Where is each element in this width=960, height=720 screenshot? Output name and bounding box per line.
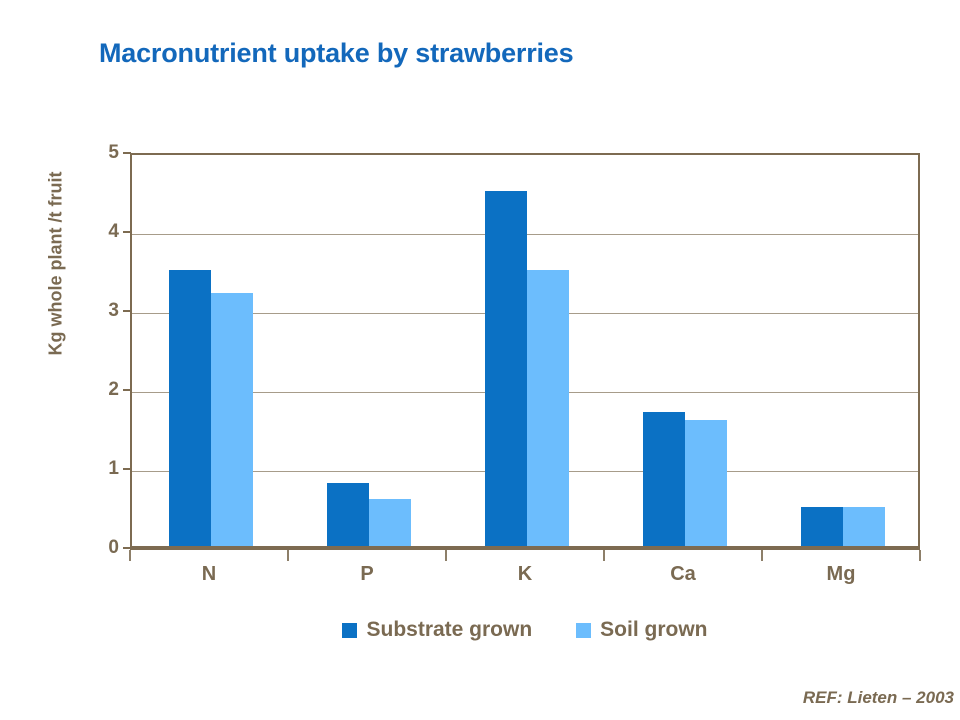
x-axis-tick-mark xyxy=(129,550,131,561)
y-axis-tick-mark xyxy=(123,231,131,233)
reference-note: REF: Lieten – 2003 xyxy=(803,688,954,708)
bar-n-substrate-grown[interactable] xyxy=(169,270,211,547)
bar-ca-soil-grown[interactable] xyxy=(685,420,727,546)
y-axis-tick-label: 5 xyxy=(89,142,119,164)
plot-inner xyxy=(132,155,918,546)
y-axis-tick-mark xyxy=(123,152,131,154)
y-axis-tick-label: 1 xyxy=(89,458,119,480)
bar-mg-substrate-grown[interactable] xyxy=(801,507,843,547)
y-axis-tick-mark xyxy=(123,310,131,312)
bar-p-substrate-grown[interactable] xyxy=(327,483,369,546)
y-axis-tick-mark xyxy=(123,389,131,391)
bar-ca-substrate-grown[interactable] xyxy=(643,412,685,546)
x-axis-line xyxy=(130,546,920,550)
y-axis-tick-label: 3 xyxy=(89,300,119,322)
y-axis-tick-label: 2 xyxy=(89,379,119,401)
x-axis-category-label-n: N xyxy=(202,563,216,586)
x-axis-category-label-ca: Ca xyxy=(670,563,696,586)
bar-mg-soil-grown[interactable] xyxy=(843,507,885,547)
x-axis-tick-mark xyxy=(603,550,605,561)
x-axis-tick-mark xyxy=(287,550,289,561)
y-axis-tick-mark xyxy=(123,468,131,470)
page-title: Macronutrient uptake by strawberries xyxy=(99,38,573,69)
y-axis-tick-label: 0 xyxy=(89,537,119,559)
legend-swatch-icon xyxy=(576,623,591,638)
plot-area xyxy=(130,153,920,548)
y-axis-tick-mark xyxy=(123,547,131,549)
bar-n-soil-grown[interactable] xyxy=(211,293,253,546)
x-axis-category-label-p: P xyxy=(360,563,373,586)
bar-k-soil-grown[interactable] xyxy=(527,270,569,547)
bar-p-soil-grown[interactable] xyxy=(369,499,411,546)
legend-item-soil-grown[interactable]: Soil grown xyxy=(576,618,707,642)
x-axis-category-label-mg: Mg xyxy=(827,563,856,586)
legend-item-substrate-grown[interactable]: Substrate grown xyxy=(342,618,532,642)
x-axis-tick-mark xyxy=(761,550,763,561)
legend-item-label: Soil grown xyxy=(600,618,707,642)
y-axis-tick-labels: 012345 xyxy=(85,153,119,548)
bar-k-substrate-grown[interactable] xyxy=(485,191,527,547)
y-axis-title: Kg whole plant /t fruit xyxy=(46,134,67,394)
slide-canvas: Macronutrient uptake by strawberries Kg … xyxy=(0,0,960,720)
x-axis-tick-mark xyxy=(445,550,447,561)
y-axis-tick-label: 4 xyxy=(89,221,119,243)
chart-legend: Substrate grownSoil grown xyxy=(130,618,920,642)
x-axis-category-label-k: K xyxy=(518,563,532,586)
legend-swatch-icon xyxy=(342,623,357,638)
legend-item-label: Substrate grown xyxy=(366,618,532,642)
x-axis-tick-mark xyxy=(919,550,921,561)
